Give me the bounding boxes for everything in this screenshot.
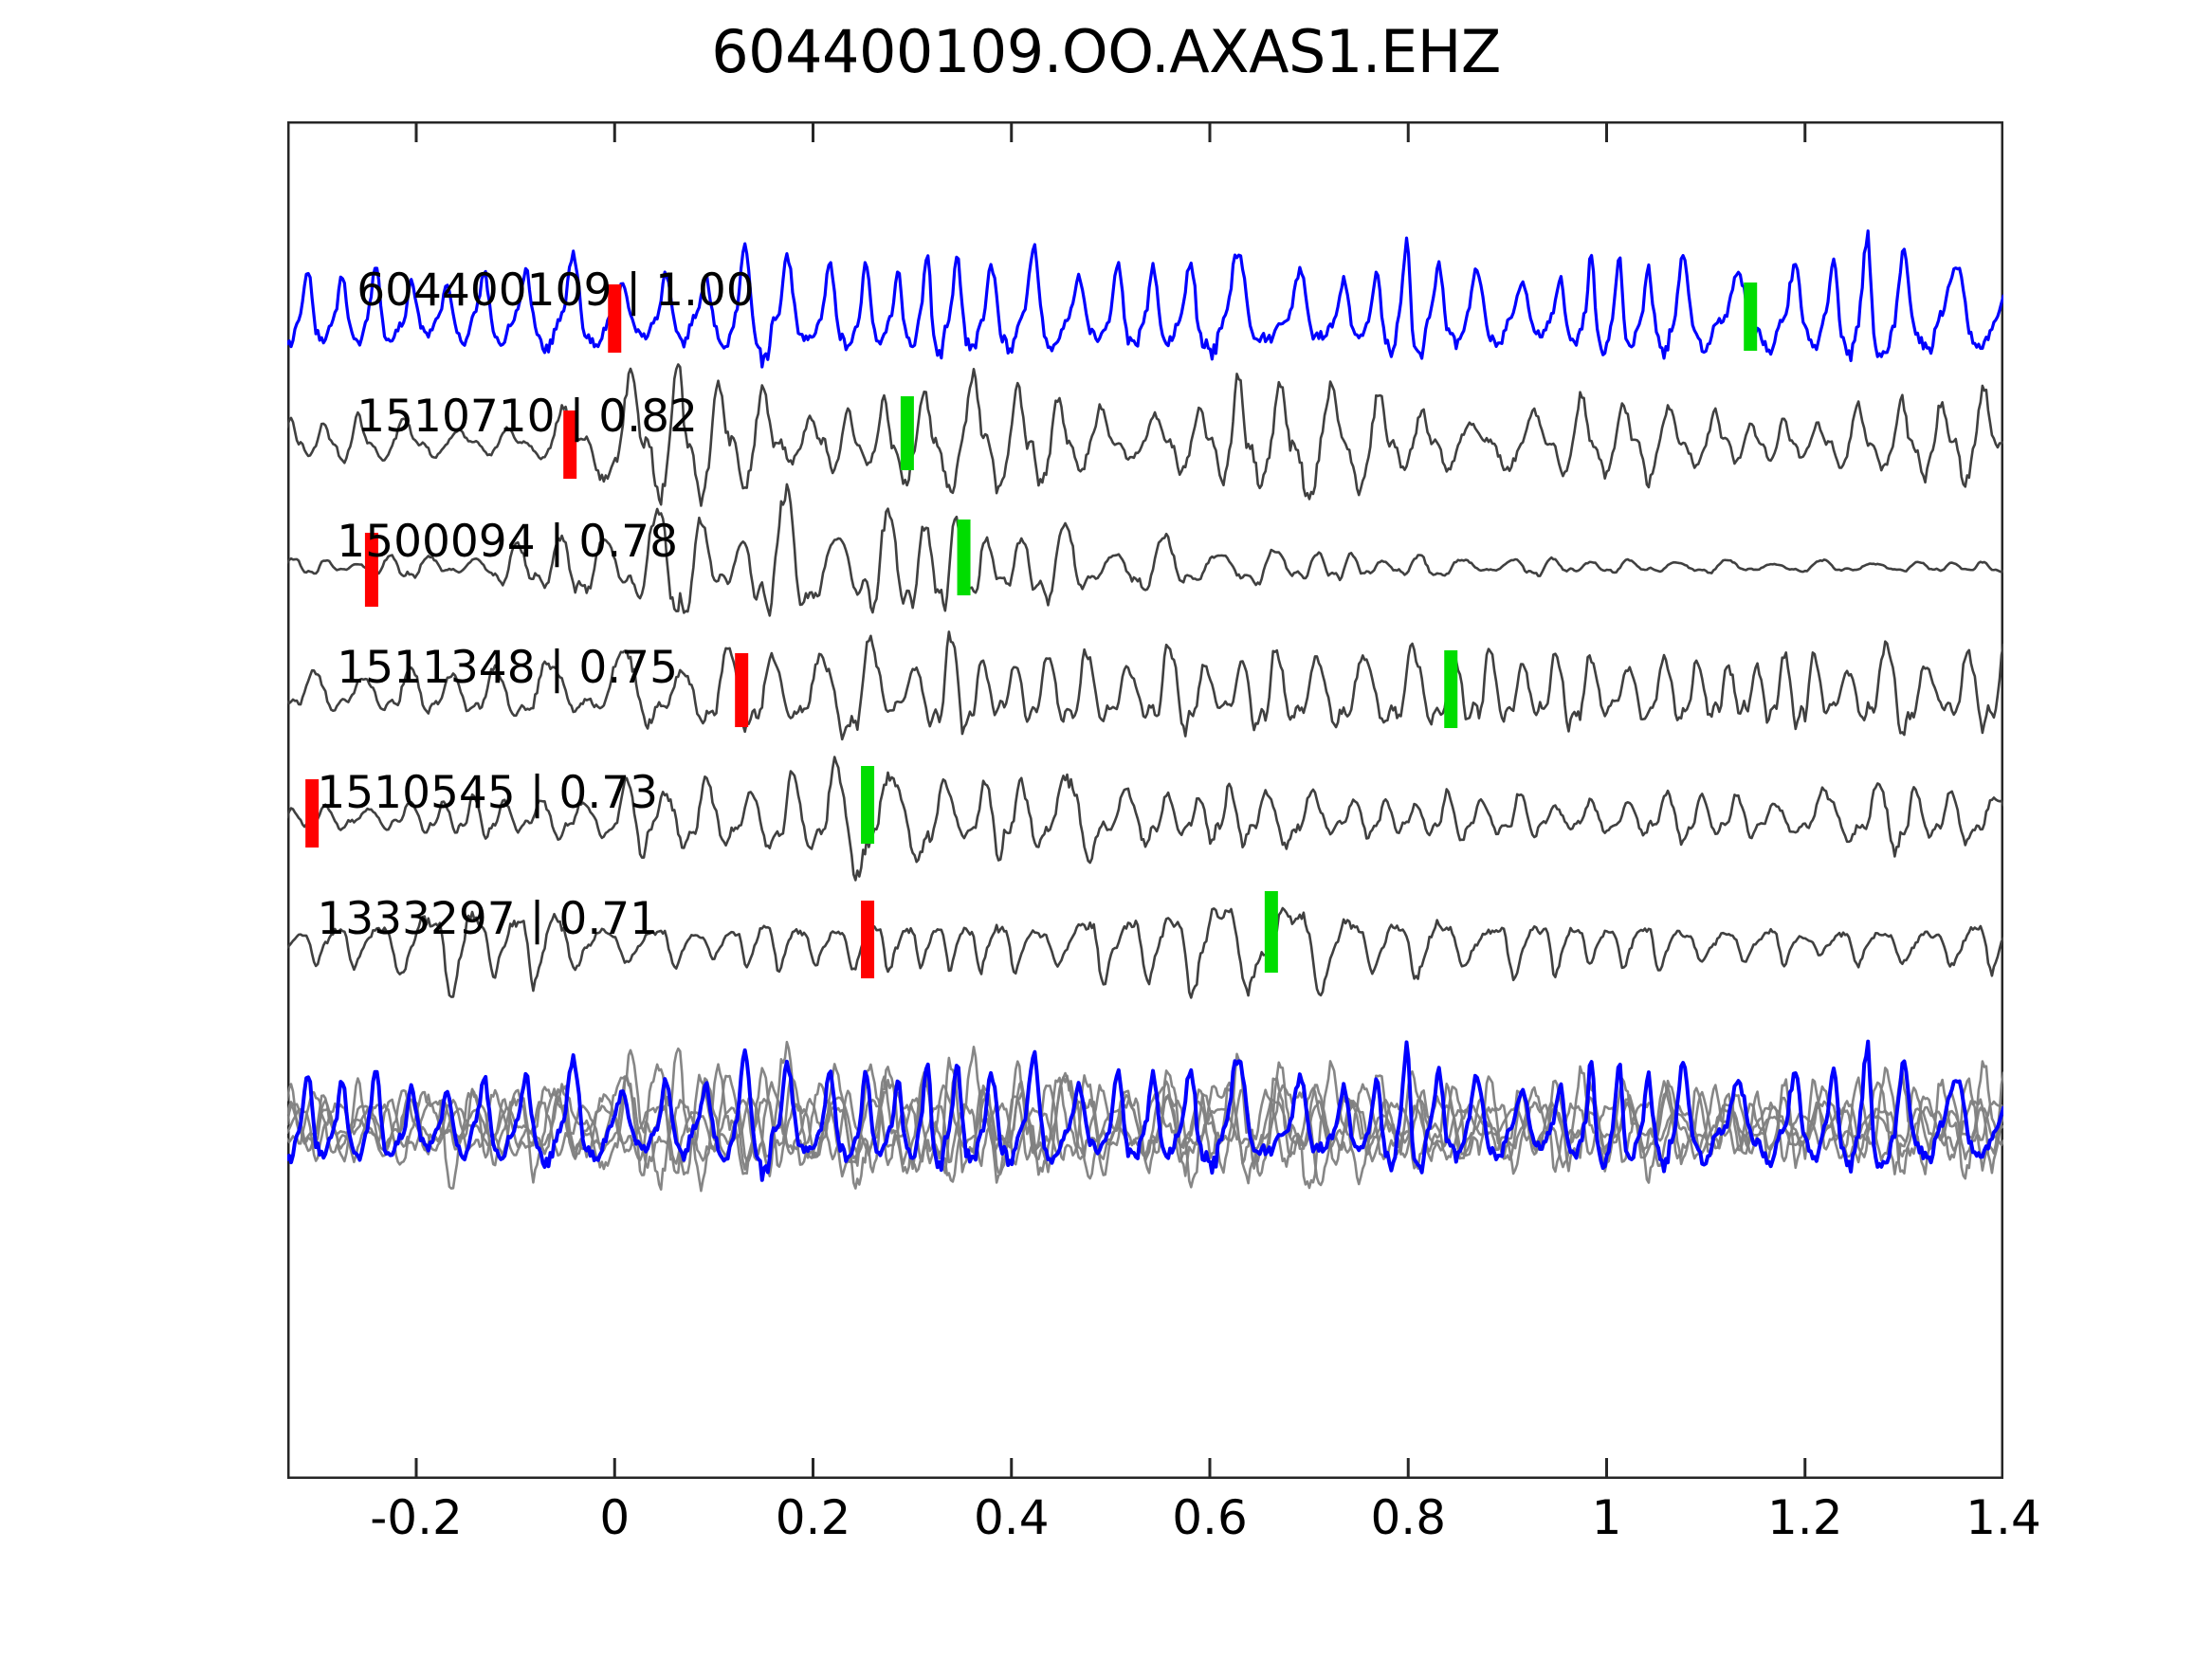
trace-label-1333297: 1333297 | 0.71	[317, 893, 658, 945]
s-pick-marker	[861, 766, 874, 844]
trace-label-1500094: 1500094 | 0.78	[337, 516, 678, 568]
s-pick-marker	[1444, 650, 1457, 728]
p-pick-marker	[735, 653, 748, 727]
x-axis-tick-labels: -0.200.20.40.60.811.21.4	[287, 1490, 2003, 1557]
x-tick-label: -0.2	[370, 1490, 463, 1545]
s-pick-marker	[901, 396, 914, 470]
x-tick-label: 0.2	[776, 1490, 851, 1545]
x-tick-label: 0	[599, 1490, 630, 1545]
p-pick-marker	[861, 901, 874, 978]
x-tick-label: 1	[1592, 1490, 1622, 1545]
trace-label-1510545: 1510545 | 0.73	[317, 767, 658, 819]
s-pick-marker	[1265, 891, 1278, 973]
x-tick-label: 1.2	[1767, 1490, 1843, 1545]
trace-label-1510710: 1510710 | 0.82	[356, 391, 698, 443]
x-tick-label: 0.6	[1172, 1490, 1248, 1545]
x-tick-label: 1.4	[1965, 1490, 2041, 1545]
s-pick-marker	[1744, 283, 1757, 351]
trace-label-604400109: 604400109 | 1.00	[356, 264, 755, 317]
plot-axes: 604400109 | 1.001510710 | 0.821500094 | …	[287, 121, 2003, 1479]
seismic-waveform-figure: 604400109.OO.AXAS1.EHZ 604400109 | 1.001…	[0, 0, 2212, 1659]
trace-label-1511348: 1511348 | 0.75	[337, 642, 678, 694]
s-pick-marker	[958, 520, 971, 595]
x-tick-label: 0.4	[974, 1490, 1050, 1545]
x-tick-label: 0.8	[1370, 1490, 1446, 1545]
page-title: 604400109.OO.AXAS1.EHZ	[0, 17, 2212, 86]
